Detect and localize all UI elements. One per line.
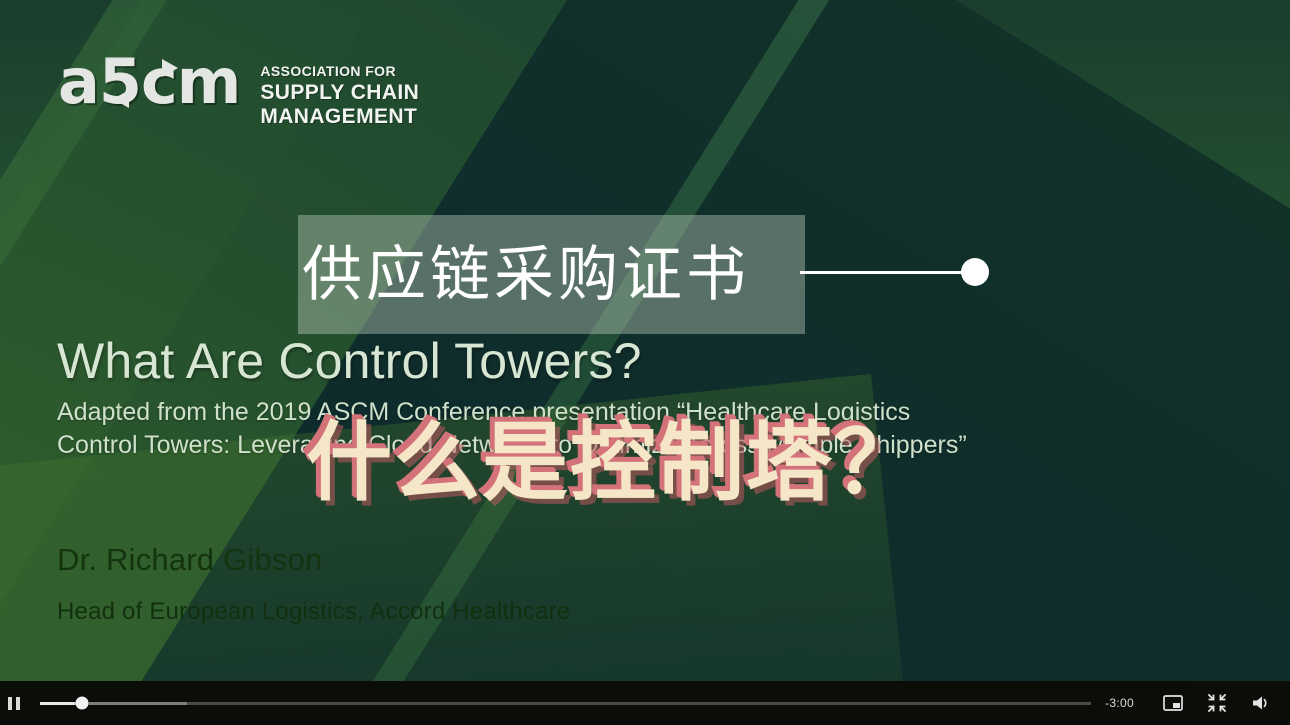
slide-presenter-role: Head of European Logistics, Accord Healt… (57, 598, 570, 626)
overlay-banner-text: 供应链采购证书 (298, 245, 750, 305)
volume-icon (1251, 694, 1271, 712)
volume-button[interactable] (1244, 681, 1278, 725)
picture-in-picture-button[interactable] (1156, 681, 1190, 725)
arrow-right-icon (162, 59, 178, 77)
overlay-banner: 供应链采购证书 (298, 215, 805, 334)
slide-title: What Are Control Towers? (57, 332, 642, 390)
overlay-leader-dot (961, 258, 989, 286)
time-remaining-label: -3:00 (1105, 696, 1134, 710)
picture-in-picture-icon (1163, 695, 1183, 711)
ascm-logo-mark: a5cm (58, 53, 242, 112)
video-surface[interactable]: a5cm ASSOCIATION FOR SUPPLY CHAIN MANAGE… (0, 0, 1290, 681)
progress-track[interactable] (40, 702, 1091, 705)
slide-presenter-name: Dr. Richard Gibson (57, 542, 322, 578)
player-control-bar[interactable]: -3:00 (0, 681, 1290, 725)
logo-line-association: ASSOCIATION FOR (260, 62, 419, 81)
logo-line-management: MANAGEMENT (260, 105, 419, 129)
ascm-logo-text: ASSOCIATION FOR SUPPLY CHAIN MANAGEMENT (260, 53, 419, 129)
overlay-headline: 什么是控制塔？ (306, 420, 922, 506)
arrow-left-icon (113, 90, 129, 108)
pause-icon (8, 697, 20, 710)
progress-handle[interactable] (76, 697, 89, 710)
exit-fullscreen-icon (1208, 694, 1226, 712)
ascm-logo-wordmark: a5cm (58, 45, 240, 118)
ascm-logo: a5cm ASSOCIATION FOR SUPPLY CHAIN MANAGE… (58, 53, 419, 129)
video-player[interactable]: a5cm ASSOCIATION FOR SUPPLY CHAIN MANAGE… (0, 0, 1290, 725)
pause-button[interactable] (0, 681, 28, 725)
overlay-leader-line (800, 271, 968, 274)
progress-scrubber[interactable] (40, 681, 1091, 725)
exit-fullscreen-button[interactable] (1200, 681, 1234, 725)
logo-line-supply-chain: SUPPLY CHAIN (260, 81, 419, 105)
